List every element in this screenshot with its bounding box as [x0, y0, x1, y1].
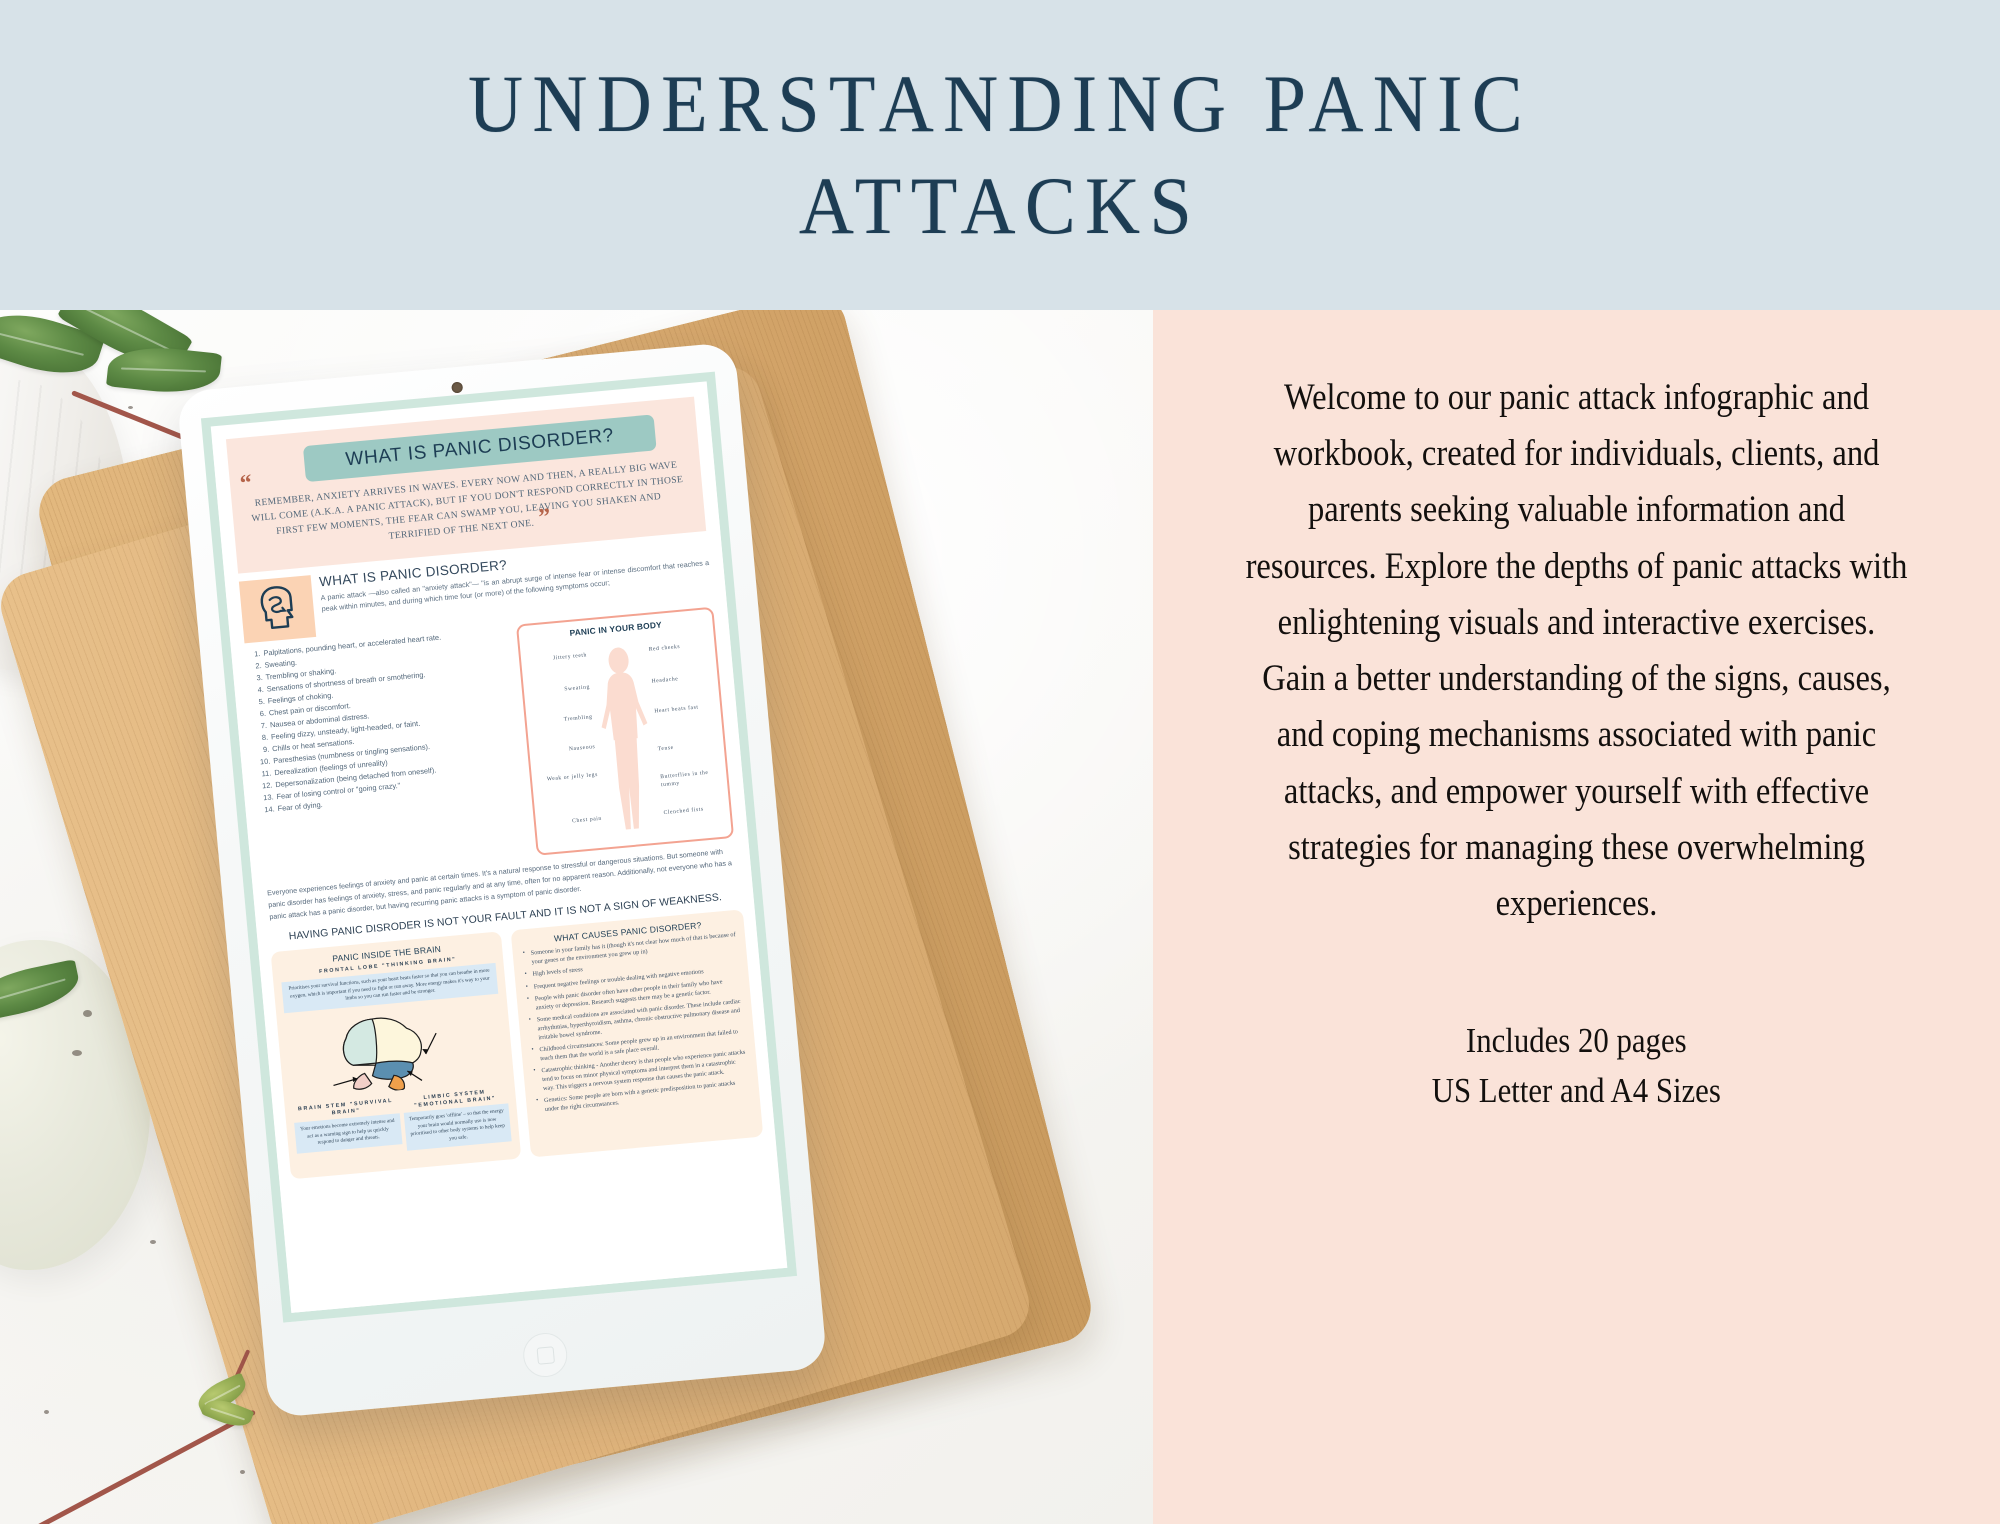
quote-open-icon: “ — [240, 483, 252, 484]
tablet-device: C WHAT IS PANIC DISORDER? “ REMEMBER, AN… — [176, 342, 827, 1419]
brand-handle: @counsellorcronan — [714, 1273, 764, 1284]
tablet-camera-icon — [451, 382, 463, 394]
tablet-screen[interactable]: C WHAT IS PANIC DISORDER? “ REMEMBER, AN… — [201, 372, 797, 1323]
photo-speck — [72, 1050, 82, 1056]
page-title: Understanding Panic Attacks — [442, 53, 1558, 258]
listing-image-root: Understanding Panic Attacks — [0, 0, 2000, 1524]
body-label-left: Trembling — [531, 715, 593, 728]
body-label-left: Nauseous — [533, 744, 595, 757]
body-label-right: Heart beats fast — [654, 703, 716, 716]
header-band: Understanding Panic Attacks — [0, 0, 2000, 310]
body-label-left: Weak or jelly legs — [536, 772, 598, 785]
body-label-right: Headache — [651, 673, 713, 686]
symptoms-and-body-section: 1.Palpitations, pounding heart, or accel… — [245, 607, 734, 881]
body-card-title: PANIC IN YOUR BODY — [523, 616, 709, 643]
photo-speck — [44, 1410, 49, 1414]
photo-speck — [240, 1470, 245, 1474]
what-causes-panic-disorder-panel: WHAT CAUSES PANIC DISORDER? Someone in y… — [511, 909, 764, 1157]
body-label-right: Butterflies in the tummy — [660, 769, 723, 789]
limbic-system-callout: Temporarily goes 'offline' – so that the… — [403, 1104, 512, 1152]
brain-diagram-icon — [284, 997, 506, 1100]
quote-close-icon: ” — [537, 504, 552, 531]
body-label-left: Jittery teeth — [525, 653, 587, 666]
includes-pages-line: Includes 20 pages — [1432, 1016, 1721, 1066]
product-photo-panel: C WHAT IS PANIC DISORDER? “ REMEMBER, AN… — [0, 310, 1153, 1524]
panic-inside-the-brain-panel: PANIC INSIDE THE BRAIN FRONTAL LOBE "THI… — [271, 931, 522, 1179]
body-label-right: Red cheeks — [649, 642, 711, 655]
infographic-document: C WHAT IS PANIC DISORDER? “ REMEMBER, AN… — [212, 395, 789, 1322]
head-brain-icon — [239, 576, 316, 644]
symptom-list: 1.Palpitations, pounding heart, or accel… — [245, 626, 527, 881]
photo-speck — [83, 1010, 92, 1017]
tablet-home-button[interactable] — [521, 1331, 569, 1379]
body-label-left: Sweating — [528, 685, 590, 698]
includes-sizes-line: US Letter and A4 Sizes — [1432, 1066, 1721, 1116]
welcome-paragraph: Welcome to our panic attack infographic … — [1243, 370, 1911, 932]
body-label-right: Clenched fists — [663, 805, 725, 818]
photo-speck — [150, 1240, 156, 1244]
body-label-right: Tense — [658, 741, 720, 754]
human-silhouette-icon — [589, 643, 662, 837]
includes-block: Includes 20 pages US Letter and A4 Sizes — [1432, 1016, 1721, 1115]
description-panel: Welcome to our panic attack infographic … — [1153, 310, 2000, 1524]
causes-list: Someone in your family has it (though it… — [521, 931, 750, 1115]
body-label-left: Chest pain — [540, 816, 602, 829]
photo-speck — [128, 406, 133, 409]
panic-in-your-body-card: PANIC IN YOUR BODY Jittery teeth Sweatin… — [516, 607, 734, 856]
brain-and-causes-section: PANIC INSIDE THE BRAIN FRONTAL LOBE "THI… — [271, 909, 764, 1179]
